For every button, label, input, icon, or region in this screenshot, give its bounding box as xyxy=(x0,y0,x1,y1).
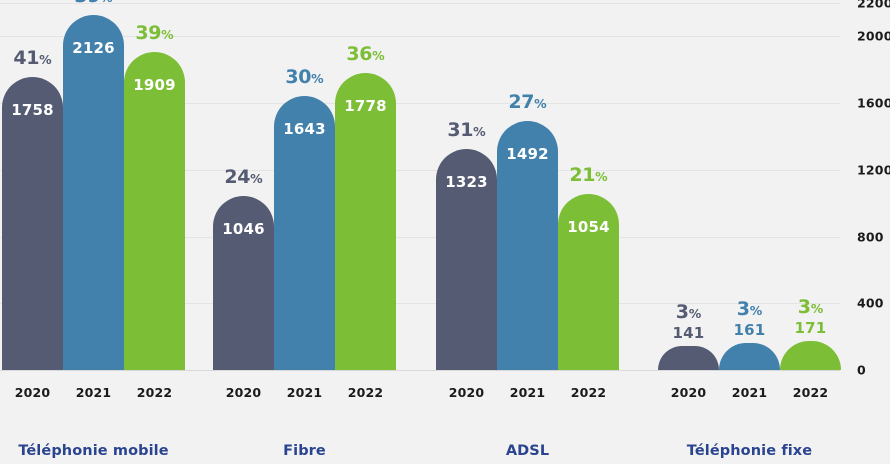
bar-value-label: 1492 xyxy=(497,147,558,162)
category-label: Téléphonie fixe xyxy=(658,443,841,459)
bar-percent-label: 39% xyxy=(124,24,185,43)
x-tick-year-label: 2021 xyxy=(63,385,124,400)
y-tick-label: 400 xyxy=(857,296,884,311)
bar-percent-label: 24% xyxy=(213,168,274,187)
bar-value-label: 161 xyxy=(719,323,780,338)
axis-baseline xyxy=(0,370,840,371)
bar[interactable]: 212639% xyxy=(63,15,124,370)
y-axis: 04008001200160020002200 xyxy=(845,0,890,371)
x-tick-year-label: 2020 xyxy=(436,385,497,400)
bar-chart: 175841%212639%190939%104624%164330%17783… xyxy=(0,0,890,464)
category-label: Téléphonie mobile xyxy=(2,443,185,459)
y-tick-label: 1600 xyxy=(857,96,890,111)
bar-fill xyxy=(2,77,63,370)
bar-percent-label: 30% xyxy=(274,68,335,87)
bar-value-label: 1643 xyxy=(274,122,335,137)
bar-percent-label: 27% xyxy=(497,93,558,112)
bar-fill xyxy=(335,73,396,370)
bar[interactable]: 132331% xyxy=(436,149,497,370)
bar-fill xyxy=(780,341,841,370)
bar-percent-label: 39% xyxy=(63,0,124,6)
y-tick-label: 2000 xyxy=(857,29,890,44)
bar[interactable]: 1413% xyxy=(658,346,719,370)
bar-value-label: 171 xyxy=(780,321,841,336)
bar-percent-label: 36% xyxy=(335,45,396,64)
gridline xyxy=(0,3,840,4)
x-tick-year-label: 2022 xyxy=(335,385,396,400)
category-label: ADSL xyxy=(436,443,619,459)
bar-value-label: 141 xyxy=(658,326,719,341)
x-tick-year-label: 2020 xyxy=(2,385,63,400)
y-tick-label: 0 xyxy=(857,363,866,378)
x-tick-year-label: 2020 xyxy=(658,385,719,400)
plot-area: 175841%212639%190939%104624%164330%17783… xyxy=(0,0,840,371)
bar-fill xyxy=(63,15,124,370)
bar-percent-label: 3% xyxy=(780,298,841,317)
bar-percent-label: 21% xyxy=(558,166,619,185)
bar-value-label: 1778 xyxy=(335,99,396,114)
bar[interactable]: 149227% xyxy=(497,121,558,370)
bar-percent-label: 31% xyxy=(436,121,497,140)
bar[interactable]: 190939% xyxy=(124,52,185,370)
bar-percent-label: 3% xyxy=(719,300,780,319)
bar-fill xyxy=(658,346,719,370)
bar[interactable]: 1613% xyxy=(719,343,780,370)
bar-value-label: 1758 xyxy=(2,103,63,118)
bar-percent-label: 41% xyxy=(2,49,63,68)
y-tick-label: 800 xyxy=(857,229,884,244)
bar-value-label: 1323 xyxy=(436,175,497,190)
bar[interactable]: 105421% xyxy=(558,194,619,370)
bar-value-label: 1054 xyxy=(558,220,619,235)
x-tick-year-label: 2022 xyxy=(124,385,185,400)
x-tick-year-label: 2022 xyxy=(558,385,619,400)
bar-fill xyxy=(719,343,780,370)
x-tick-year-label: 2021 xyxy=(719,385,780,400)
category-label: Fibre xyxy=(213,443,396,459)
bar[interactable]: 1713% xyxy=(780,341,841,370)
x-tick-year-label: 2022 xyxy=(780,385,841,400)
x-tick-year-label: 2021 xyxy=(497,385,558,400)
x-tick-year-label: 2021 xyxy=(274,385,335,400)
bar[interactable]: 175841% xyxy=(2,77,63,370)
bar-value-label: 1909 xyxy=(124,78,185,93)
x-tick-year-label: 2020 xyxy=(213,385,274,400)
bar-value-label: 2126 xyxy=(63,41,124,56)
y-tick-label: 2200 xyxy=(857,0,890,11)
bar-percent-label: 3% xyxy=(658,303,719,322)
bar[interactable]: 164330% xyxy=(274,96,335,370)
bar-value-label: 1046 xyxy=(213,222,274,237)
bar-fill xyxy=(124,52,185,370)
bar[interactable]: 177836% xyxy=(335,73,396,370)
y-tick-label: 1200 xyxy=(857,162,890,177)
bar[interactable]: 104624% xyxy=(213,196,274,370)
